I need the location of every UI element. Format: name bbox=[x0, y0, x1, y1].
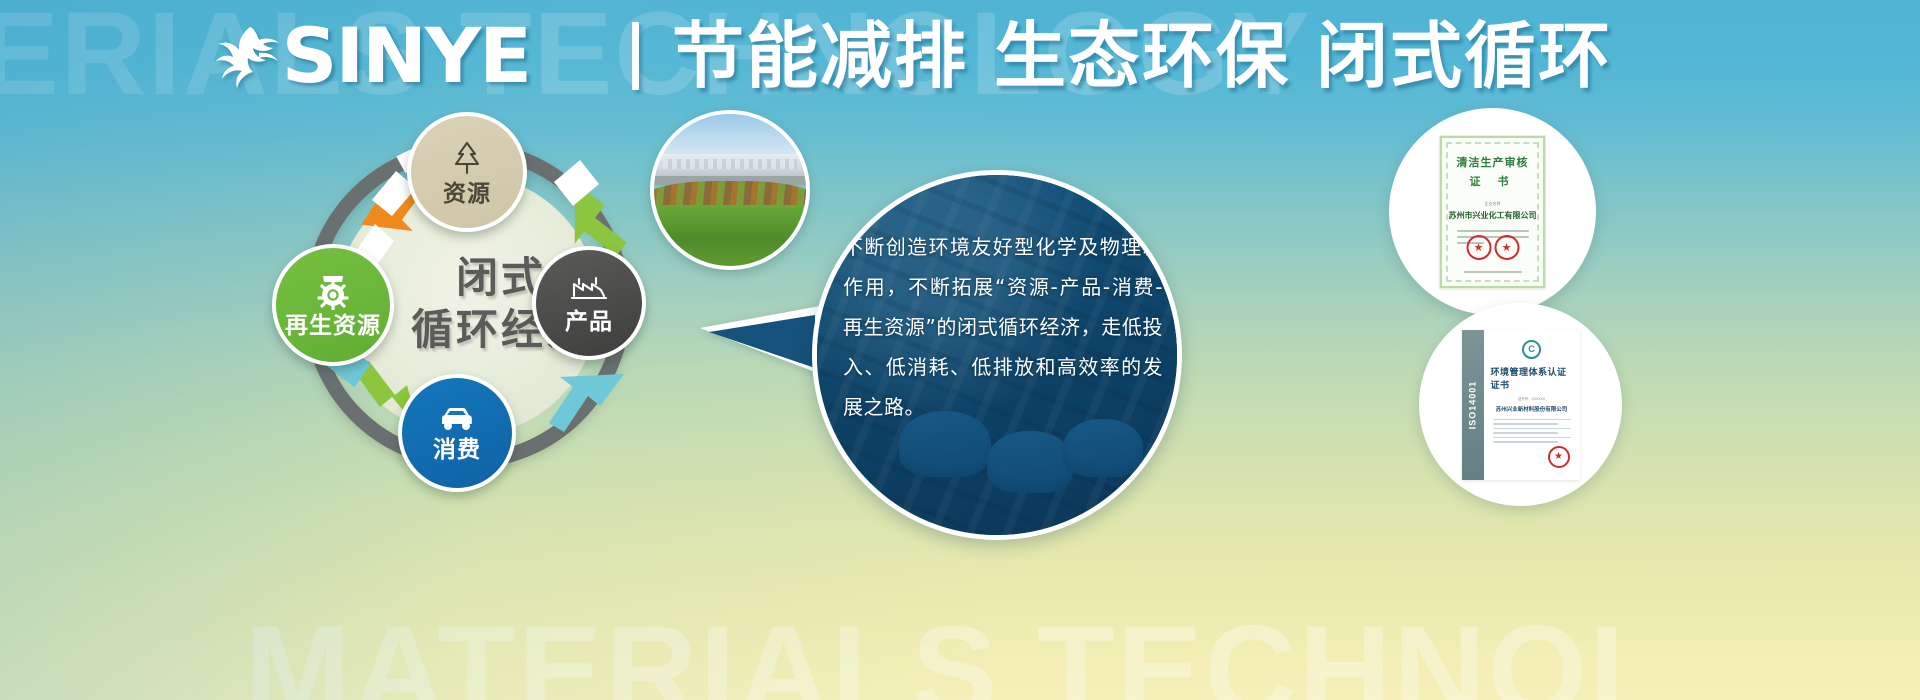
cert1-title-line2: 证 书 bbox=[1469, 173, 1515, 189]
diagram-node-product[interactable]: 产品 bbox=[532, 246, 646, 360]
cert1-date-line bbox=[1464, 271, 1522, 273]
bubble-paragraph: 不断创造环境友好型化学及物理新作用，不断拓展“资源-产品-消费-再生资源”的闭式… bbox=[843, 227, 1163, 427]
cert2-company: 苏州兴业新材料股份有限公司 bbox=[1496, 405, 1568, 413]
node-label-recycle: 再生资源 bbox=[285, 312, 381, 338]
diagram-node-resource[interactable]: 资源 bbox=[407, 112, 527, 232]
ghost-wordmark-bottom: MATERIALS TECHNOL bbox=[244, 598, 1669, 700]
factory-icon bbox=[570, 272, 608, 306]
banner-header: SINYE 节能减排生态环保闭式循环 bbox=[0, 0, 1920, 112]
header-slogan: 节能减排生态环保闭式循环 bbox=[672, 16, 1612, 96]
certification-mark-icon: C bbox=[1522, 340, 1541, 359]
cert2-spine-text: ISO14001 bbox=[1468, 380, 1478, 429]
node-label-consume: 消费 bbox=[433, 436, 481, 462]
certificate-paper: ISO14001 C 环境管理体系认证证书 证书号：XXXXXX 苏州兴业新材料… bbox=[1462, 330, 1580, 480]
brand-logo-text: SINYE bbox=[282, 20, 530, 92]
cert2-number: 证书号：XXXXXX bbox=[1518, 396, 1545, 401]
brand-divider bbox=[632, 22, 639, 90]
seal-stamp-icon bbox=[1548, 446, 1570, 468]
cert2-spine: ISO14001 bbox=[1462, 330, 1484, 480]
circular-economy-diagram: 闭式 循环经济 资源 产品 bbox=[268, 112, 668, 502]
certificate-paper: 清洁生产审核 证 书 企业名称 苏州市兴业化工有限公司 bbox=[1440, 136, 1545, 288]
speech-bubble-group: 不断创造环境友好型化学及物理新作用，不断拓展“资源-产品-消费-再生资源”的闭式… bbox=[700, 170, 1180, 610]
speech-bubble-tail-inner bbox=[709, 315, 815, 368]
cert1-title-line1: 清洁生产审核 bbox=[1457, 154, 1529, 170]
seal-stamp-icon bbox=[1466, 235, 1491, 260]
slogan-part-1: 节能减排 bbox=[672, 14, 968, 98]
tree-icon bbox=[447, 138, 487, 178]
cert1-seals bbox=[1466, 235, 1519, 260]
node-label-resource: 资源 bbox=[443, 180, 491, 206]
seal-stamp-icon bbox=[1494, 235, 1519, 260]
cert2-title: 环境管理体系认证证书 bbox=[1491, 365, 1573, 391]
slogan-part-3: 闭式循环 bbox=[1316, 14, 1612, 98]
slogan-part-2: 生态环保 bbox=[994, 14, 1290, 98]
diagram-node-recycle[interactable]: 再生资源 bbox=[272, 244, 394, 366]
node-label-product: 产品 bbox=[565, 308, 613, 334]
recycle-gear-icon bbox=[313, 272, 353, 310]
certificate-clean-production[interactable]: 清洁生产审核 证 书 企业名称 苏州市兴业化工有限公司 bbox=[1389, 108, 1596, 315]
certificate-iso14001[interactable]: ISO14001 C 环境管理体系认证证书 证书号：XXXXXX 苏州兴业新材料… bbox=[1419, 303, 1622, 506]
banner-stage: ERIALS TECHNOLOGY MATERIALS TECHNOL SINY… bbox=[0, 0, 1920, 700]
cert1-sub-label: 企业名称 bbox=[1485, 201, 1501, 207]
cert2-body-lines bbox=[1493, 419, 1571, 447]
cert1-company: 苏州市兴业化工有限公司 bbox=[1449, 210, 1537, 221]
speech-bubble: 不断创造环境友好型化学及物理新作用，不断拓展“资源-产品-消费-再生资源”的闭式… bbox=[812, 170, 1182, 540]
splash-leaf-icon bbox=[212, 23, 282, 89]
brand-logo[interactable]: SINYE bbox=[212, 18, 528, 94]
car-icon bbox=[436, 404, 478, 434]
diagram-node-consume[interactable]: 消费 bbox=[398, 374, 516, 492]
